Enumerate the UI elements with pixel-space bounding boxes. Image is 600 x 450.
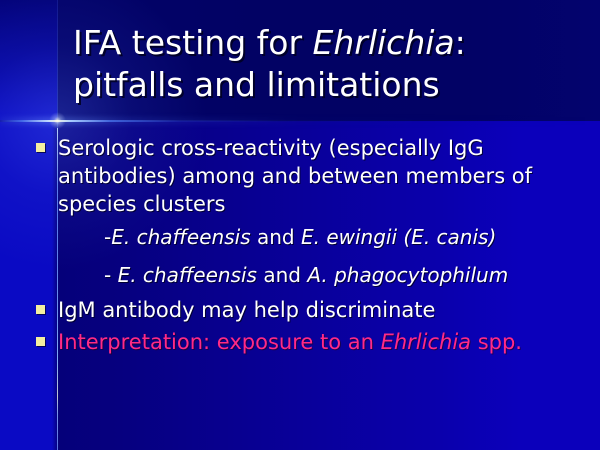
interpretation-text-pre: Interpretation: exposure to an: [58, 330, 381, 354]
bullet-text-igm-antibody: IgM antibody may help discriminate: [58, 296, 588, 324]
title-species-name: Ehrlichia: [313, 23, 455, 62]
subline-species-pair-1: -E. chaffeensis and E. ewingii (E. canis…: [104, 224, 588, 250]
title-text-post: :: [455, 23, 466, 62]
title-text-pre: IFA testing for: [73, 23, 313, 62]
subline-species-2a: E. chaffeensis: [118, 263, 257, 287]
subline-conjunction-1: and: [251, 225, 301, 249]
subline-dash-2: -: [104, 263, 118, 287]
bullet-text-cross-reactivity: Serologic cross-reactivity (especially I…: [58, 134, 588, 218]
subline-species-2b: A. phagocytophilum: [307, 263, 508, 287]
interpretation-species-name: Ehrlichia: [381, 330, 471, 354]
horizontal-accent-line-icon: [0, 120, 600, 122]
slide-title: IFA testing for Ehrlichia:pitfalls and l…: [73, 22, 583, 106]
square-bullet-icon: [36, 337, 45, 346]
bullet-item-igm-antibody: IgM antibody may help discriminate: [36, 296, 588, 324]
bullet-item-cross-reactivity: Serologic cross-reactivity (especially I…: [36, 134, 588, 218]
slide-body: Serologic cross-reactivity (especially I…: [36, 134, 588, 358]
slide-canvas: IFA testing for Ehrlichia:pitfalls and l…: [0, 0, 600, 450]
interpretation-text-post: spp.: [471, 330, 522, 354]
title-line-two: pitfalls and limitations: [73, 65, 440, 104]
slide-background-left-strip: [0, 0, 57, 121]
square-bullet-icon: [36, 143, 45, 152]
subline-species-pair-2: - E. chaffeensis and A. phagocytophilum: [104, 262, 588, 288]
subline-species-1a: E. chaffeensis: [111, 225, 250, 249]
subline-spacer: [36, 250, 588, 256]
bullet-text-interpretation: Interpretation: exposure to an Ehrlichia…: [58, 328, 588, 356]
subline-conjunction-2: and: [257, 263, 307, 287]
bullet-item-interpretation: Interpretation: exposure to an Ehrlichia…: [36, 328, 588, 356]
square-bullet-icon: [36, 305, 45, 314]
subline-species-1b: E. ewingii (E. canis): [301, 225, 496, 249]
